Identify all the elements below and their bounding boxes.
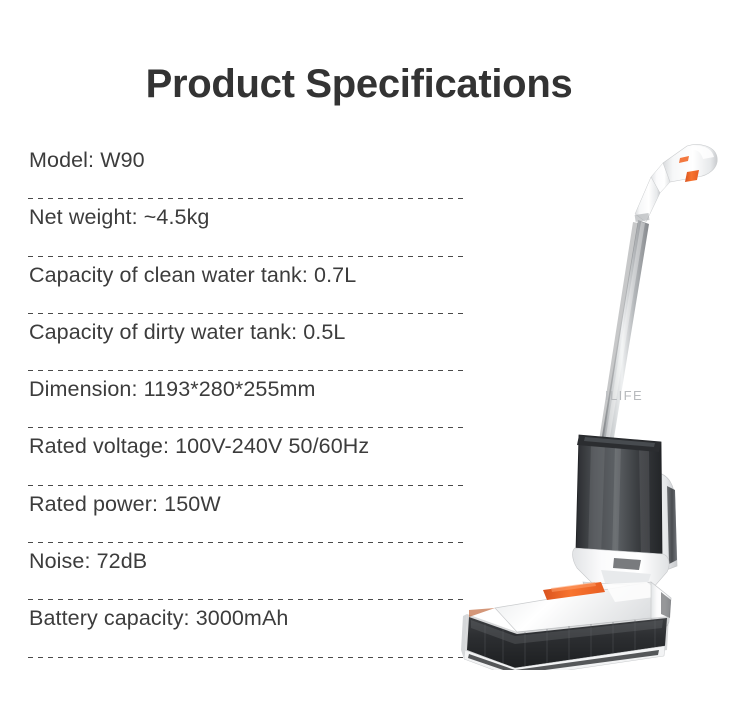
spec-row: Noise: 72dB (28, 549, 466, 606)
brand-logo-text: ILIFE (605, 388, 643, 403)
spec-row: Capacity of clean water tank: 0.7L (28, 263, 466, 320)
spec-divider (28, 313, 466, 314)
spec-row: Rated power: 150W (28, 492, 466, 549)
spec-divider (28, 599, 466, 600)
spec-label: Model: W90 (29, 148, 145, 173)
spec-label: Dimension: 1193*280*255mm (29, 377, 316, 402)
floor-head (461, 582, 671, 670)
spec-divider (28, 485, 466, 486)
spec-divider (28, 427, 466, 428)
spec-row: Capacity of dirty water tank: 0.5L (28, 320, 466, 377)
spec-label: Battery capacity: 3000mAh (29, 606, 288, 631)
spec-label: Noise: 72dB (29, 549, 147, 574)
telescoping-tube (598, 220, 649, 450)
product-image: ILIFE (455, 130, 750, 670)
spec-divider (28, 370, 466, 371)
spec-row: Battery capacity: 3000mAh (28, 606, 466, 663)
spec-divider (28, 542, 466, 543)
spec-divider (28, 657, 466, 658)
spec-row: Net weight: ~4.5kg (28, 205, 466, 262)
spec-label: Capacity of clean water tank: 0.7L (29, 263, 356, 288)
spec-label: Rated voltage: 100V-240V 50/60Hz (29, 434, 369, 459)
spec-label: Net weight: ~4.5kg (29, 205, 209, 230)
spec-row: Model: W90 (28, 148, 466, 205)
dirty-water-tank-visible (576, 435, 662, 564)
spec-row: Rated voltage: 100V-240V 50/60Hz (28, 434, 466, 491)
spec-label: Capacity of dirty water tank: 0.5L (29, 320, 346, 345)
spec-row: Dimension: 1193*280*255mm (28, 377, 466, 434)
handle-grip-group (651, 144, 717, 193)
spec-label: Rated power: 150W (29, 492, 221, 517)
specification-list: Model: W90 Net weight: ~4.5kg Capacity o… (28, 148, 466, 664)
product-specifications-page: Product Specifications Model: W90 Net we… (0, 0, 750, 720)
spec-divider (28, 198, 466, 199)
spec-divider (28, 256, 466, 257)
page-title: Product Specifications (0, 62, 718, 107)
